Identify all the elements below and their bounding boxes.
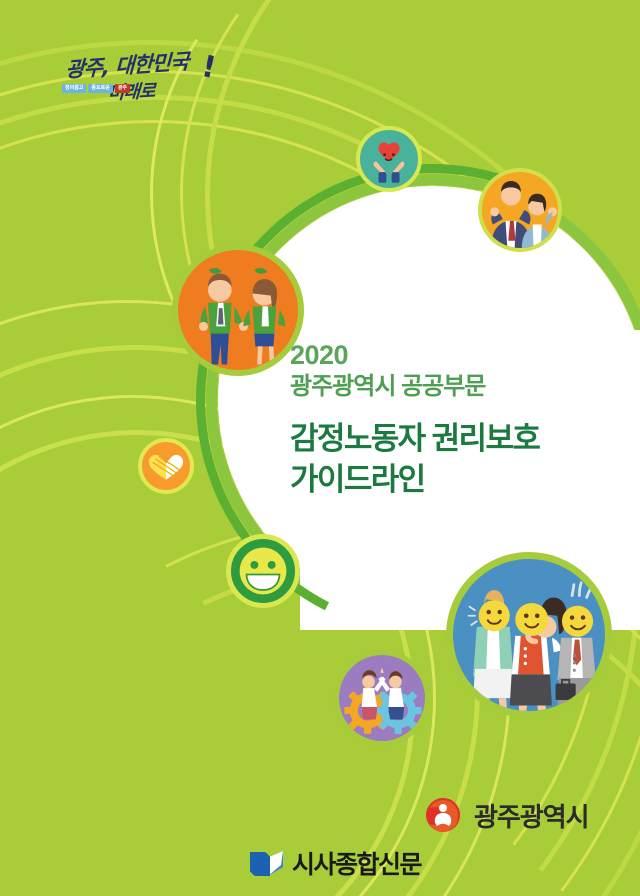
- cover-title-line-2: 가이드라인: [290, 459, 610, 501]
- handshake-heart-icon: [138, 438, 194, 494]
- cover-organization: 광주광역시 공공부문: [290, 372, 610, 402]
- smiley-face-icon: [226, 534, 300, 608]
- cover-year: 2020: [290, 340, 610, 372]
- two-office-workers-icon: [478, 168, 562, 252]
- gwangju-emblem-icon: [424, 796, 462, 834]
- gwangju-city-name: 광주광역시: [474, 797, 589, 834]
- walking-couple-icon: [172, 244, 304, 376]
- gwangju-bi-logo: 광주, 대한민국 ! 미래로 정의롭고 풍요로운 광주: [62, 52, 242, 114]
- hands-holding-heart-icon: [356, 126, 422, 192]
- gwangju-city-logo: 광주광역시: [424, 796, 589, 834]
- cover-title-line-1: 감정노동자 권리보호: [290, 418, 610, 460]
- bi-logo-exclamation: !: [199, 49, 220, 86]
- press-name: 시사종합신문: [292, 845, 421, 881]
- brochure-cover: 광주, 대한민국 ! 미래로 정의롭고 풍요로운 광주: [0, 0, 640, 896]
- bi-chip-2: 풍요로운: [88, 84, 112, 93]
- open-book-icon: [249, 848, 285, 878]
- workers-with-smile-masks-icon: [446, 552, 612, 718]
- high-five-gears-icon: [334, 650, 430, 746]
- bi-chip-3: 광주: [115, 84, 130, 93]
- bi-chip-1: 정의롭고: [62, 84, 86, 93]
- cover-title-block: 2020 광주광역시 공공부문 감정노동자 권리보호 가이드라인: [290, 340, 610, 501]
- bi-logo-chip-row: 정의롭고 풍요로운 광주: [62, 84, 130, 93]
- press-watermark-logo: 시사종합신문: [249, 845, 421, 881]
